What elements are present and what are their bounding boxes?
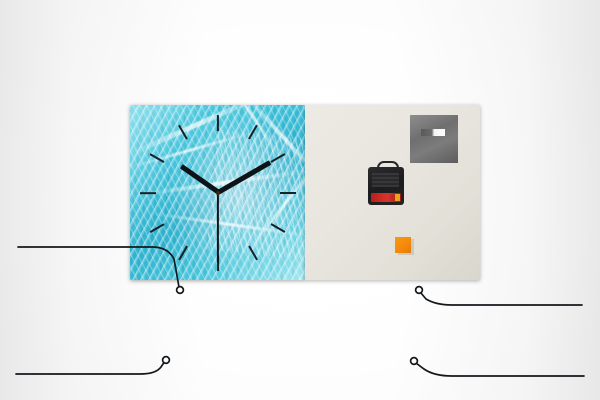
product-photo [130,105,480,280]
connector-dot-glass [177,287,184,294]
infographic-canvas: GEHARD GLAS Bestand tegen breuk en krass… [0,0,600,400]
connector-handles [421,293,582,305]
clock-tick [280,192,296,194]
connector-print [16,361,165,374]
clock-mechanism-box [368,167,404,205]
clock-back-view [305,105,480,280]
clock-front-view [130,105,305,280]
clock-second-hand [217,192,219,262]
metal-hanger-plate [410,115,458,163]
clock-tick [140,192,156,194]
connector-dot-print [163,357,170,364]
connector-mechanism [416,363,584,376]
mechanism-dial [372,173,399,187]
clock-center-cap [216,191,220,195]
connector-dot-handles [416,287,423,294]
connector-dot-mechanism [411,358,418,365]
clock-tick [216,115,218,131]
battery [371,193,401,202]
foam-spacer [395,237,411,253]
